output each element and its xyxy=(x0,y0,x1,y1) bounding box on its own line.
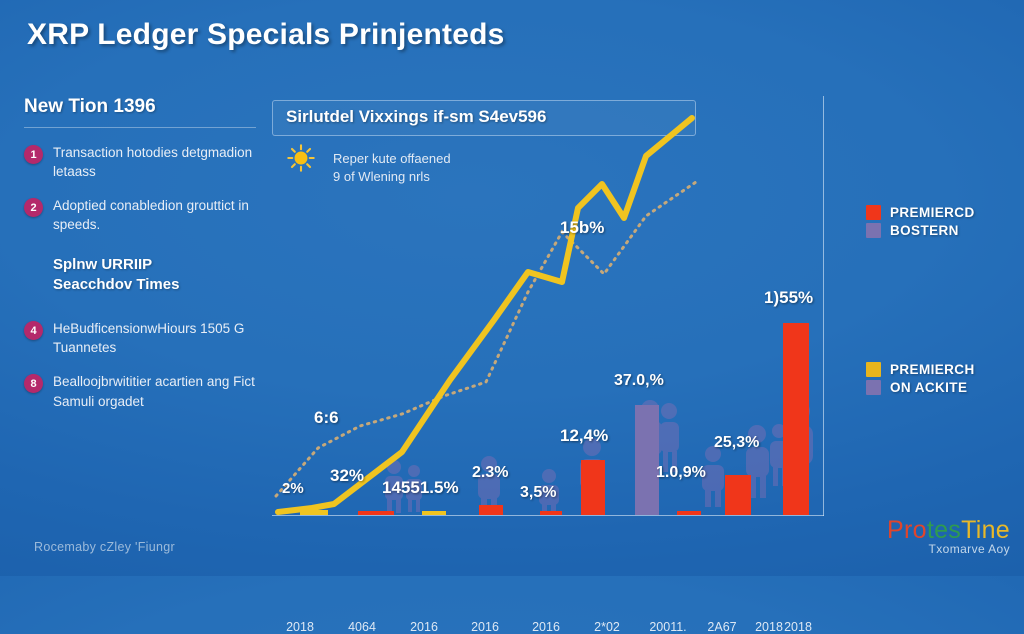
sidebar-item-8[interactable]: 8 Bealloojbrwititier acartien ang Fict S… xyxy=(24,372,256,410)
sidebar-badge-4: 4 xyxy=(24,321,43,340)
data-label: 37.0,% xyxy=(614,372,664,390)
data-label: 2.3% xyxy=(472,464,508,482)
x-axis-tick: 2A67 xyxy=(707,620,736,634)
sidebar-badge-8: 8 xyxy=(24,374,43,393)
legend-label: ON ACKITE xyxy=(890,380,967,395)
x-axis-tick: 2016 xyxy=(532,620,560,634)
watermark-part1: Pro xyxy=(887,516,927,544)
x-axis-tick: 2*02 xyxy=(594,620,620,634)
legend-label: PREMIERCD xyxy=(890,205,975,220)
page-title: XRP Ledger Specials Prinjenteds xyxy=(27,18,504,52)
bar-premiercd xyxy=(479,505,503,515)
watermark-part3: Tine xyxy=(961,516,1010,544)
legend-item[interactable]: BOSTERN xyxy=(866,223,975,238)
data-label: 3,5% xyxy=(520,484,556,502)
sidebar-badge-2: 2 xyxy=(24,198,43,217)
sidebar-item-label: HeBudficensionwHiours 1505 G Tuannetes xyxy=(53,319,256,357)
bar-premiercd xyxy=(725,475,751,515)
data-label: 14551.5% xyxy=(382,478,459,498)
sidebar-item-2[interactable]: 2 Adoptied conabledion grouttict in spee… xyxy=(24,196,256,234)
data-label: 25,3% xyxy=(714,434,759,452)
line-series-premierch xyxy=(272,96,824,516)
x-axis-tick: 2018 xyxy=(755,620,783,634)
legend-top: PREMIERCD BOSTERN xyxy=(866,205,975,241)
data-label: 32% xyxy=(330,466,364,486)
legend-bottom: PREMIERCH ON ACKITE xyxy=(866,362,975,398)
legend-item[interactable]: ON ACKITE xyxy=(866,380,975,395)
bar-premiercd xyxy=(358,511,394,515)
bar-premiercd xyxy=(677,511,701,515)
x-axis-tick: 20011. xyxy=(649,620,686,634)
sidebar-item-label: Transaction hotodies detgmadion letaass xyxy=(53,143,256,181)
data-label: 2% xyxy=(282,480,304,497)
data-label: 1.0,9% xyxy=(656,464,706,482)
bar-premiercd xyxy=(783,323,809,515)
watermark-part2: tes xyxy=(927,516,961,544)
x-axis-tick: 2016 xyxy=(410,620,438,634)
watermark-logo: ProtesTine xyxy=(887,516,1010,545)
footnote: Rocemaby cZley 'Fiungr xyxy=(34,540,175,554)
x-axis-tick: 2018 xyxy=(784,620,812,634)
legend-swatch-premiercd xyxy=(866,205,881,220)
annotation-label: 6:6 xyxy=(314,408,339,428)
sidebar-subheading: Splnw URRIIP Seacchdov Times xyxy=(53,255,256,296)
sidebar-item-label: Adoptied conabledion grouttict in speeds… xyxy=(53,196,256,234)
bar-premiercd xyxy=(422,511,446,515)
legend-item[interactable]: PREMIERCD xyxy=(866,205,975,220)
data-label: 12,4% xyxy=(560,426,608,446)
sidebar-item-1[interactable]: 1 Transaction hotodies detgmadion letaas… xyxy=(24,143,256,181)
sidebar-item-label: Bealloojbrwititier acartien ang Fict Sam… xyxy=(53,372,256,410)
legend-swatch-on-ackite xyxy=(866,380,881,395)
legend-swatch-bostern xyxy=(866,223,881,238)
legend-swatch-premierch xyxy=(866,362,881,377)
chart-plot-area: 2% 32% 14551.5% 2.3% 3,5% 12,4% 37.0,% 1… xyxy=(272,96,824,516)
bar-bostern xyxy=(635,405,659,515)
sidebar: New Tion 1396 1 Transaction hotodies det… xyxy=(24,96,256,411)
x-axis-tick: 2016 xyxy=(471,620,499,634)
annotation-label: 15b% xyxy=(560,218,604,238)
data-label: 1)55% xyxy=(764,288,813,308)
watermark: ProtesTine Txomarve Aoy xyxy=(887,516,1010,556)
legend-label: PREMIERCH xyxy=(890,362,975,377)
bar-premiercd xyxy=(540,511,562,515)
sidebar-item-4[interactable]: 4 HeBudficensionwHiours 1505 G Tuannetes xyxy=(24,319,256,357)
x-axis-tick: 4064 xyxy=(348,620,376,634)
sidebar-badge-1: 1 xyxy=(24,145,43,164)
legend-label: BOSTERN xyxy=(890,223,959,238)
bar-premiercd xyxy=(581,460,605,515)
bar-premiercd xyxy=(300,510,328,515)
sidebar-heading: New Tion 1396 xyxy=(24,96,256,128)
legend-item[interactable]: PREMIERCH xyxy=(866,362,975,377)
x-axis-tick: 2018 xyxy=(286,620,314,634)
